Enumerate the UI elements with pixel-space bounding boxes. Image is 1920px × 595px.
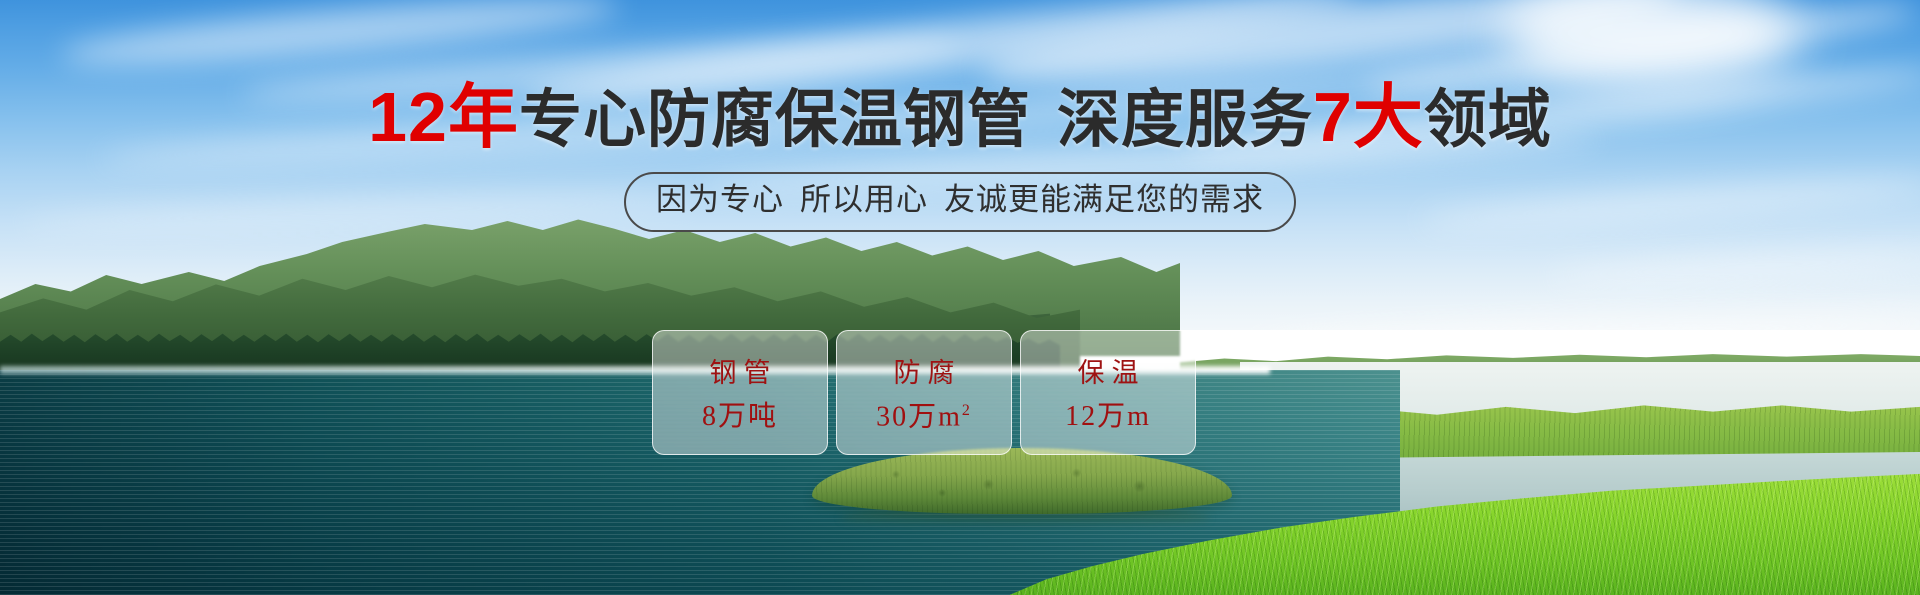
stat-card-value-text: 30万m: [876, 401, 962, 432]
subtitle-part-3: 友诚更能满足您的需求: [944, 182, 1264, 217]
banner-subtitle-pill: 因为专心所以用心友诚更能满足您的需求: [624, 172, 1296, 232]
headline-fields: 领域: [1424, 85, 1552, 155]
headline-main: 专心防腐保温钢管: [519, 85, 1031, 155]
headline-service: 深度服务: [1057, 85, 1313, 155]
stat-card-value-text: 12万m: [1065, 401, 1151, 432]
subtitle-part-2: 所以用心: [800, 182, 928, 217]
stat-card-insulation: 保温 12万m: [1020, 330, 1196, 455]
stat-card-title: 防腐: [887, 360, 962, 387]
stat-card-value: 30万m2: [876, 403, 972, 431]
stat-card-group: 钢管 8万吨 防腐 30万m2 保温 12万m: [652, 330, 1196, 455]
stat-card-steel-pipe: 钢管 8万吨: [652, 330, 828, 455]
headline-years: 12年: [368, 78, 519, 156]
stat-card-title: 钢管: [703, 360, 778, 387]
banner-subtitle-wrap: 因为专心所以用心友诚更能满足您的需求: [0, 172, 1920, 232]
headline-fields-count: 7大: [1313, 78, 1424, 156]
stat-card-anticorrosion: 防腐 30万m2: [836, 330, 1012, 455]
stat-card-value-text: 8万吨: [702, 401, 778, 432]
stat-card-value-superscript: 2: [962, 402, 972, 419]
banner-headline: 12年专心防腐保温钢管深度服务7大领域: [0, 82, 1920, 152]
stat-card-value: 8万吨: [702, 403, 778, 431]
promo-banner: 12年专心防腐保温钢管深度服务7大领域 因为专心所以用心友诚更能满足您的需求 钢…: [0, 0, 1920, 595]
subtitle-part-1: 因为专心: [656, 182, 784, 217]
banner-content: 12年专心防腐保温钢管深度服务7大领域 因为专心所以用心友诚更能满足您的需求 钢…: [0, 0, 1920, 595]
stat-card-title: 保温: [1071, 360, 1146, 387]
stat-card-value: 12万m: [1065, 403, 1151, 431]
